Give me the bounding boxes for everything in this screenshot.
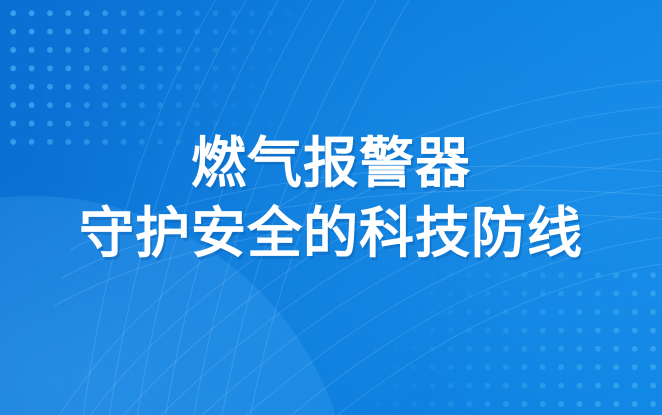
promo-banner: 燃气报警器 守护安全的科技防线: [0, 0, 662, 415]
headline-line-1: 燃气报警器: [0, 132, 662, 196]
dot-grid-bottom-right-icon: [362, 260, 662, 415]
headline-line-2: 守护安全的科技防线: [0, 202, 662, 266]
page-title: 燃气报警器 守护安全的科技防线: [0, 132, 662, 266]
dot-grid-top-left-icon: [0, 0, 300, 150]
